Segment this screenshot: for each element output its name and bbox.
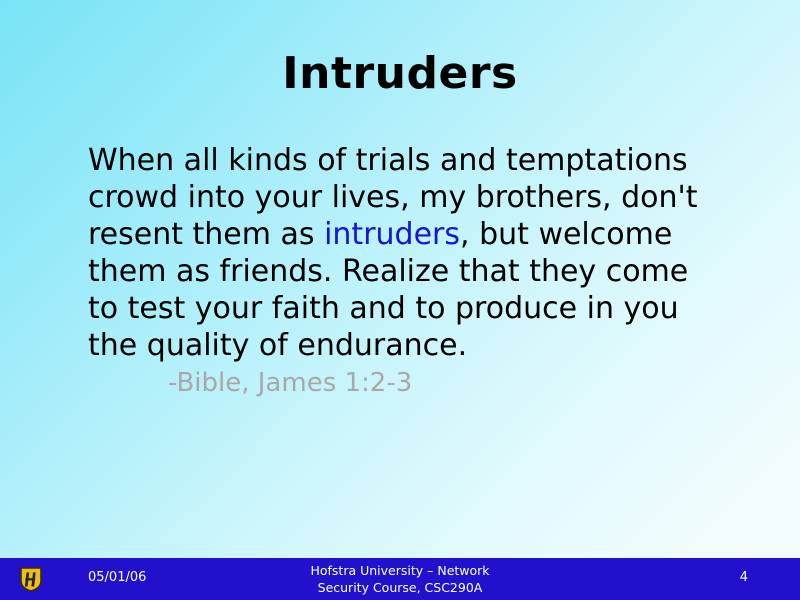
presentation-slide: Intruders When all kinds of trials and t… xyxy=(0,0,800,600)
slide-title: Intruders xyxy=(40,50,760,98)
quote-text: When all kinds of trials and temptations… xyxy=(88,142,713,364)
slide-footer: 05/01/06 Hofstra University – Network Se… xyxy=(0,558,800,600)
footer-page-number: 4 xyxy=(740,570,748,585)
footer-course-info: Hofstra University – Network Security Co… xyxy=(200,562,600,596)
quote-highlight-intruders: intruders xyxy=(324,217,460,252)
footer-date: 05/01/06 xyxy=(88,570,146,585)
slide-body-block: When all kinds of trials and temptations… xyxy=(88,142,713,399)
footer-course-line-2: Security Course, CSC290A xyxy=(200,579,600,596)
hofstra-shield-logo-icon xyxy=(20,567,42,592)
quote-attribution: -Bible, James 1:2-3 xyxy=(88,367,713,399)
footer-course-line-1: Hofstra University – Network xyxy=(200,562,600,579)
